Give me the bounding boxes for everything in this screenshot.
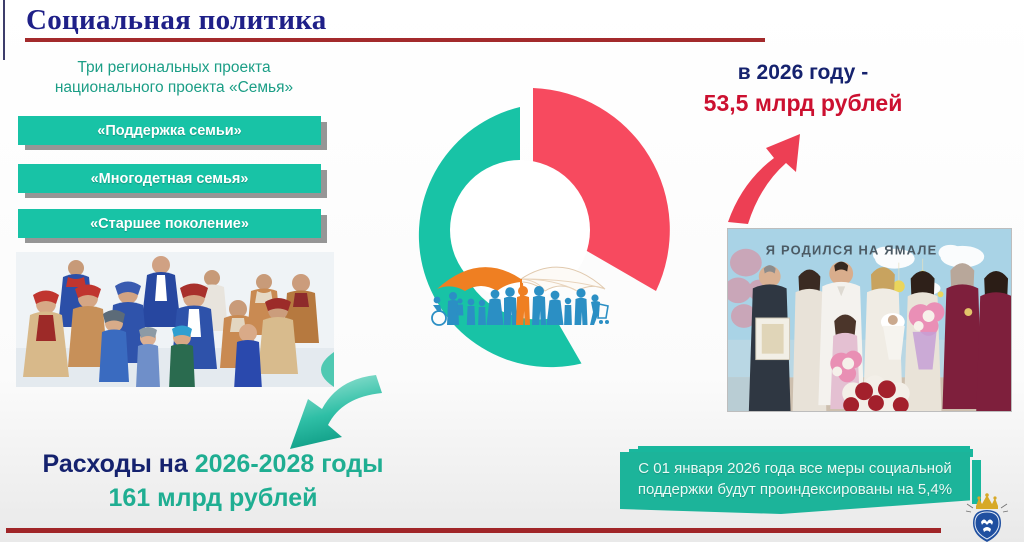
project-label: «Поддержка семьи» [97,123,241,139]
panel-body: С 01 января 2026 года все меры социально… [620,452,970,514]
project-label: «Многодетная семья» [91,171,249,187]
slide-canvas: Социальная политика Три региональных про… [0,0,1024,542]
title-underline [25,38,765,42]
banner-text: Я РОДИЛСЯ НА ЯМАЛЕ [766,243,938,258]
curved-arrow-up-icon [722,118,832,226]
left-accent-rule [3,0,5,60]
bottom-accent-rule [6,528,941,533]
card-body: «Поддержка семьи» [18,116,321,145]
project-card-0[interactable]: «Поддержка семьи» [18,116,326,146]
project-card-1[interactable]: «Многодетная семья» [18,164,326,194]
yamal-coat-of-arms-icon [964,492,1010,542]
expenditure-period: 2026-2028 годы [195,450,384,478]
indexation-text: С 01 января 2026 года все меры социально… [620,458,970,508]
card-body: «Многодетная семья» [18,164,321,193]
project-label: «Старшее поколение» [90,216,249,232]
expenditure-amount: 161 млрд рублей [18,481,408,515]
photo-birth-certificate-ceremony: Я РОДИЛСЯ НА ЯМАЛЕ [727,228,1012,412]
callout-year-label: в 2026 году - [648,58,958,88]
page-title: Социальная политика [26,4,327,37]
photo-yamal-residents [16,252,334,387]
callout-amount-value: 53,5 млрд рублей [648,88,958,118]
callout-2026-amount: в 2026 году - 53,5 млрд рублей [648,58,958,118]
subtitle: Три региональных проекта национального п… [14,58,334,98]
card-body: «Старшее поколение» [18,209,321,238]
expenditure-label: Расходы на [43,450,195,478]
umbrella-over-people-icon [427,248,615,334]
callout-total-expenditure: Расходы на 2026-2028 годы 161 млрд рубле… [18,447,408,515]
indexation-panel[interactable]: С 01 января 2026 года все меры социально… [620,446,980,520]
subtitle-line-1: Три региональных проекта [14,58,334,78]
expenditure-donut-chart [360,70,680,390]
project-card-2[interactable]: «Старшее поколение» [18,209,326,239]
subtitle-line-2: национального проекта «Семья» [14,78,334,98]
